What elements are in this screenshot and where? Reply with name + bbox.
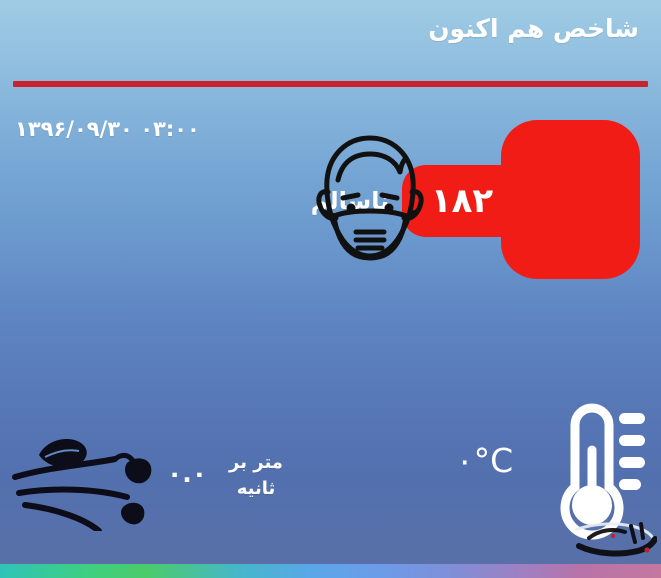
header-divider [13, 81, 648, 87]
temperature-value: ۰°C [440, 441, 530, 480]
timestamp: ۱۳۹۶/۰۹/۳۰ ۰۳:۰۰ [15, 117, 200, 141]
header: شاخص هم اکنون [0, 0, 661, 78]
wind-block: متر بر ثانیه ۰.۰ [8, 425, 298, 540]
wind-unit-line1: متر بر [220, 450, 292, 476]
page-title: شاخص هم اکنون [428, 14, 639, 43]
wind-speed-value: ۰.۰ [154, 459, 220, 488]
air-quality-widget: شاخص هم اکنون ۱۳۹۶/۰۹/۳۰ ۰۳:۰۰ ۱۸۲ ناسال… [0, 0, 661, 578]
aqi-block: ۱۸۲ ناسالم [300, 120, 640, 285]
wind-icon [11, 431, 156, 531]
wind-unit-label: متر بر ثانیه [220, 450, 292, 502]
tabnak-watermark [569, 516, 657, 564]
masked-face-icon [310, 132, 430, 267]
aqi-icon-container [501, 120, 640, 279]
bottom-color-bar [0, 564, 661, 578]
wind-unit-line2: ثانیه [220, 476, 292, 502]
